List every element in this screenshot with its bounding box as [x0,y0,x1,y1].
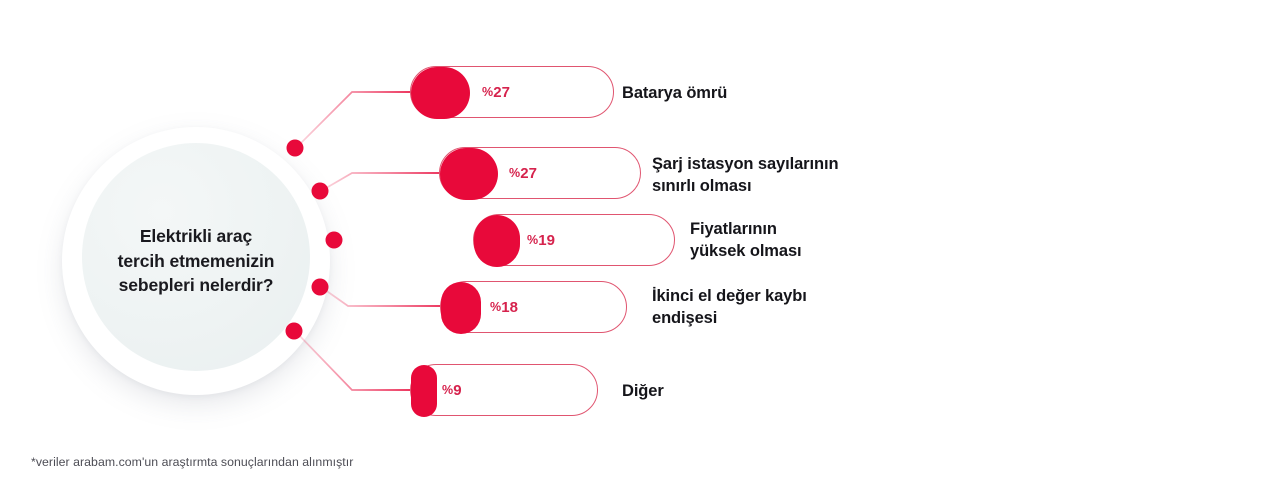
bar-track [410,364,598,416]
bar-fill [474,215,520,267]
category-label-ikinci-el: İkinci el değer kaybı endişesi [652,286,807,330]
percent-symbol: % [482,85,493,99]
bar-fill [441,282,481,334]
bar-track [473,214,675,266]
percent-symbol: % [527,233,538,247]
bar-row-fiyat-yuksek: %19 [473,214,675,266]
bar-row-ikinci-el: %18 [440,281,627,333]
bar-value-label: %27 [482,66,510,118]
source-footnote: *veriler arabam.com'un araştırmta sonuçl… [31,455,353,469]
percent-symbol: % [442,383,453,397]
category-label-diger: Diğer [622,381,664,403]
category-label-sarj-istasyon: Şarj istasyon sayılarının sınırlı olması [652,154,838,198]
bar-fill [411,365,437,417]
category-label-fiyat-yuksek: Fiyatlarının yüksek olması [690,219,802,263]
bar-fill [440,148,498,200]
bar-row-diger: %9 [410,364,598,416]
bar-row-batarya-omru: %27 [410,66,614,118]
bar-value-label: %18 [490,281,518,333]
connector-line-row-2 [321,173,444,191]
percent-symbol: % [490,300,501,314]
bar-value-label: %19 [527,214,555,266]
bar-value-label: %9 [442,364,462,416]
percent-number: 27 [520,165,537,182]
bar-row-sarj-istasyon: %27 [439,147,641,199]
connector-line-row-4 [321,287,446,306]
bar-track [410,66,614,118]
percent-number: 27 [493,84,510,101]
central-question-circle: Elektrikli araç tercih etmemenizin sebep… [62,127,330,395]
bar-value-label: %27 [509,147,537,199]
percent-number: 19 [538,232,555,249]
percent-number: 9 [453,382,461,399]
percent-symbol: % [509,166,520,180]
bar-track [440,281,627,333]
category-label-batarya-omru: Batarya ömrü [622,83,727,105]
percent-number: 18 [501,299,518,316]
central-question-text: Elektrikli araç tercih etmemenizin sebep… [62,127,330,395]
bar-fill [411,67,470,119]
bar-track [439,147,641,199]
